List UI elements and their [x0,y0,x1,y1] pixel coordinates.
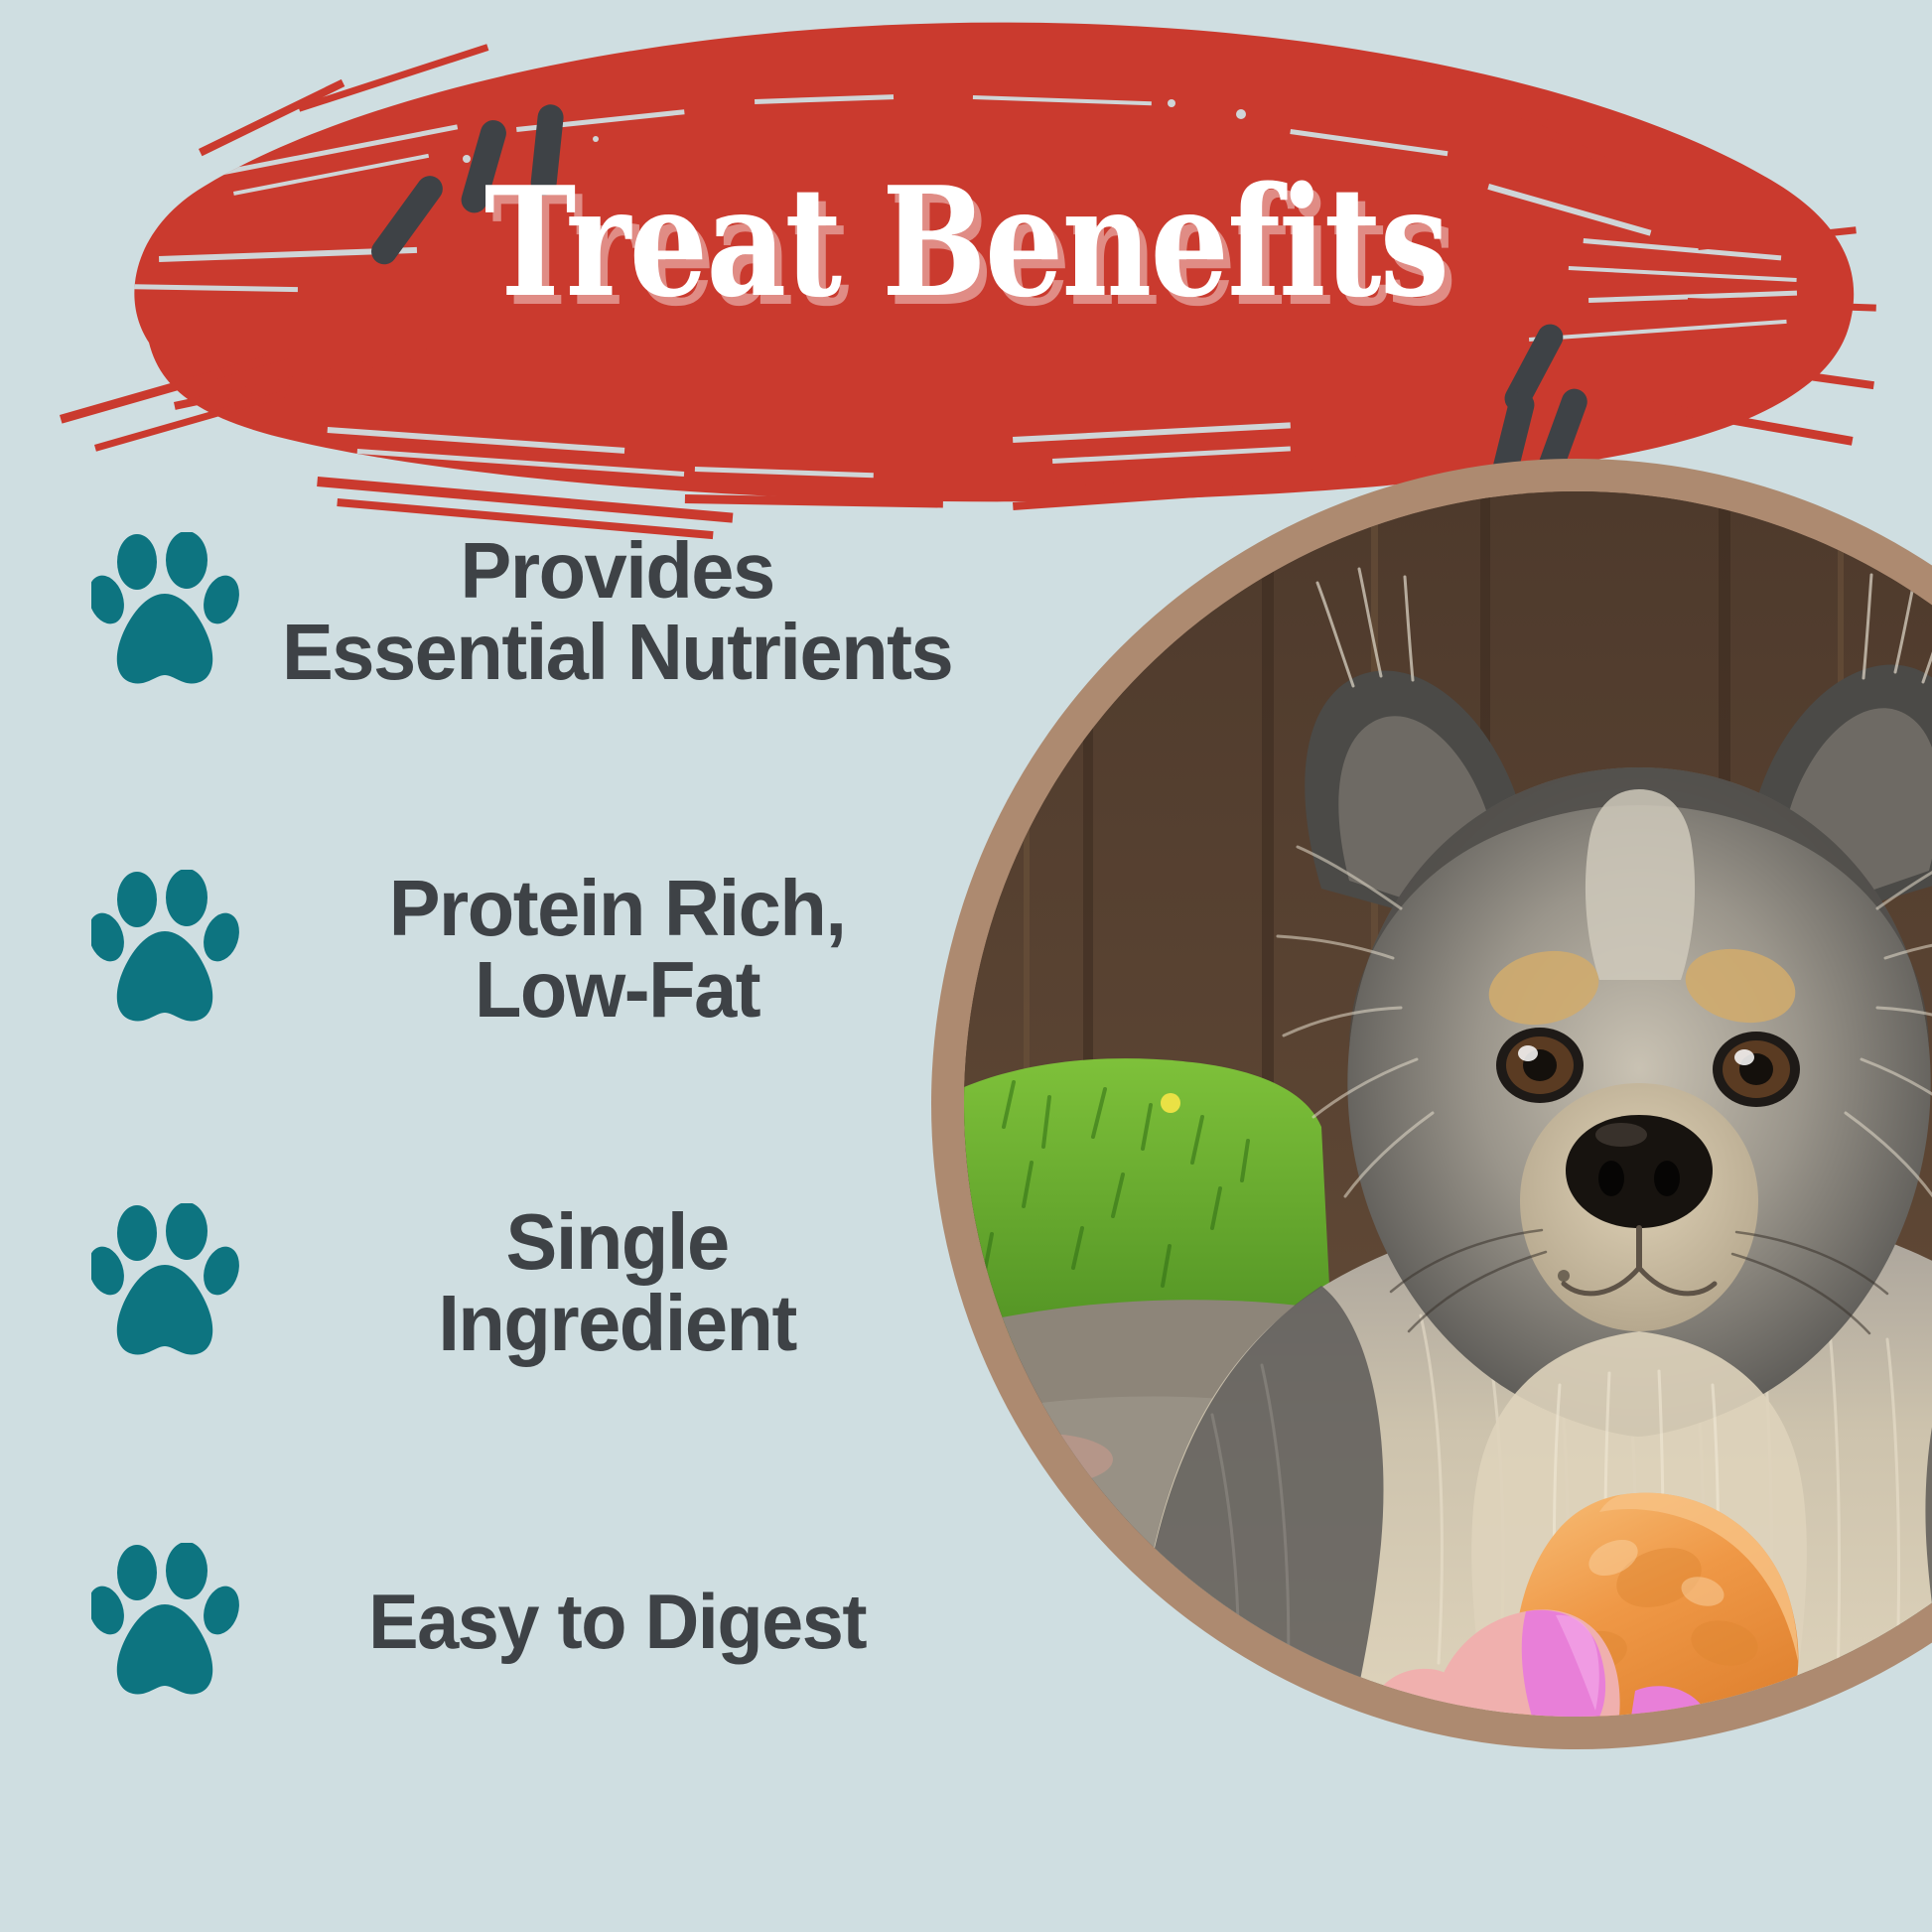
paw-print-icon [62,507,270,716]
benefit-item-easy-to-digest: Easy to Digest [0,1493,1003,1751]
benefit-item-single-ingredient: Single Ingredient [0,1154,1003,1412]
benefits-list: Provides Essential Nutrients Protein Ric… [0,483,1003,1932]
dog-photo-illustration [964,491,1932,1717]
paw-print-icon [62,1518,270,1726]
paw-print-icon [62,845,270,1053]
benefit-item-label: Protein Rich, Low-Fat [281,868,992,1030]
benefit-item-provides-essential-nutrients: Provides Essential Nutrients [0,483,1003,741]
benefit-item-label: Easy to Digest [281,1583,992,1662]
benefit-item-label: Provides Essential Nutrients [281,530,992,692]
dog-photo-frame [931,459,1932,1749]
dog-photo [964,491,1932,1717]
benefit-item-protein-rich-low-fat: Protein Rich, Low-Fat [0,820,1003,1078]
benefit-item-label: Single Ingredient [281,1201,992,1363]
treat-benefits-poster: Treat Benefits Provides Essential Nutrie… [0,0,1932,1932]
paw-print-icon [62,1178,270,1387]
